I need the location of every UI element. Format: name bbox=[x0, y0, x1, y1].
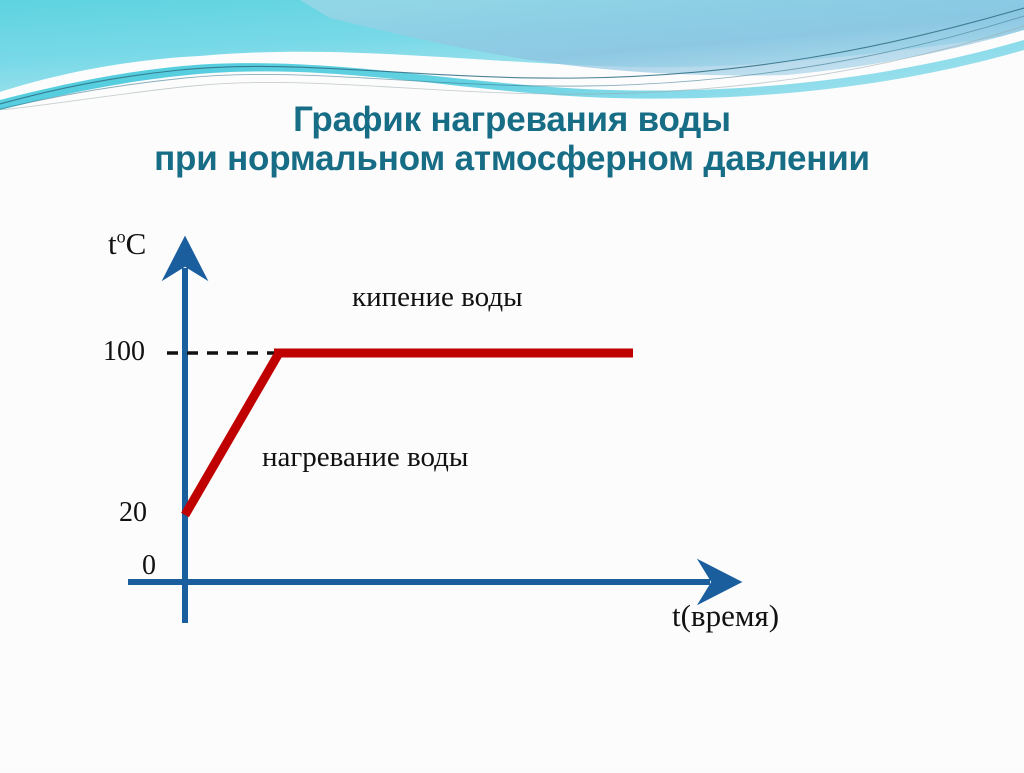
slide-canvas: График нагревания воды при нормальном ат… bbox=[0, 0, 1024, 768]
heating-segment bbox=[185, 353, 279, 515]
chart-svg bbox=[0, 0, 1024, 768]
annotation-heating-label: нагревание воды bbox=[262, 441, 468, 474]
y-axis-label: toC bbox=[108, 226, 146, 262]
y-tick-label-20: 20 bbox=[119, 497, 147, 529]
y-tick-label-100: 100 bbox=[103, 336, 145, 368]
y-tick-label-0: 0 bbox=[142, 550, 156, 582]
annotation-boiling-label: кипение воды bbox=[352, 281, 523, 314]
heating-curve-chart: toC t(время) 100 20 0 кипение воды нагре… bbox=[0, 0, 1024, 768]
x-axis-label: t(время) bbox=[672, 598, 779, 634]
